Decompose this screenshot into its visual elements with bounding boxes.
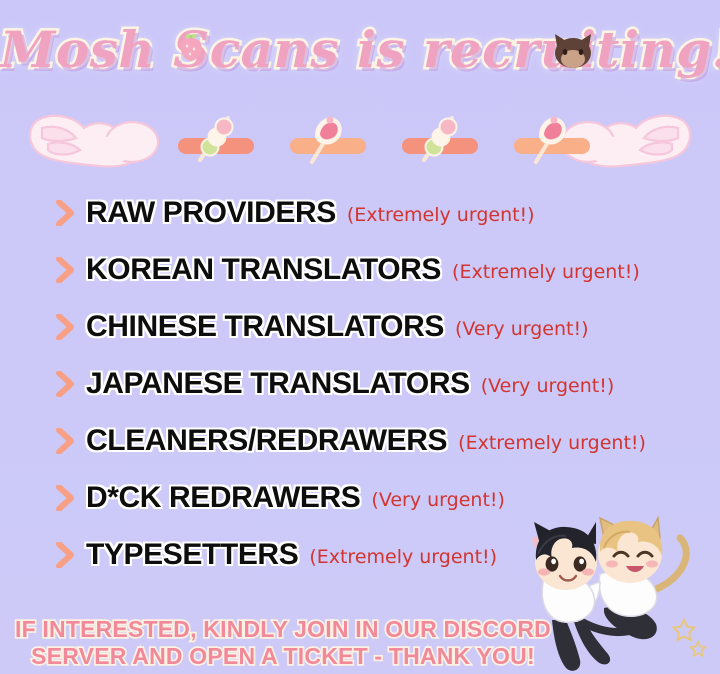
role-title: JAPANESE TRANSLATORS — [86, 367, 470, 401]
cta-line-1: IF INTERESTED, KINDLY JOIN IN OUR DISCOR… — [0, 616, 566, 643]
star-decoration — [674, 620, 706, 656]
role-urgency: (Very urgent!) — [481, 375, 615, 397]
list-item: CHINESE TRANSLATORS (Very urgent!) — [0, 298, 720, 355]
role-urgency: (Very urgent!) — [455, 318, 589, 340]
chevron-right-icon — [56, 542, 76, 568]
role-title: TYPESETTERS — [86, 538, 298, 572]
chevron-right-icon — [56, 485, 76, 511]
role-urgency: (Extremely urgent!) — [309, 546, 497, 568]
chevron-right-icon — [56, 200, 76, 226]
dango-skewer-icon — [414, 110, 464, 166]
chevron-right-icon — [56, 314, 76, 340]
role-title: RAW PROVIDERS — [86, 196, 336, 230]
decorative-divider — [0, 100, 720, 172]
role-urgency: (Extremely urgent!) — [458, 432, 646, 454]
list-item: CLEANERS/REDRAWERS (Extremely urgent!) — [0, 412, 720, 469]
chevron-right-icon — [56, 428, 76, 454]
chevron-right-icon — [56, 371, 76, 397]
winged-cloud-icon — [22, 102, 172, 172]
cat-head-icon — [551, 33, 595, 69]
role-title: D*CK REDRAWERS — [86, 481, 360, 515]
role-urgency: (Extremely urgent!) — [347, 204, 535, 226]
cta-line-2: SERVER AND OPEN A TICKET - THANK YOU! — [0, 643, 566, 670]
role-title: KOREAN TRANSLATORS — [86, 253, 441, 287]
strawberry-icon — [176, 30, 206, 62]
call-to-action: IF INTERESTED, KINDLY JOIN IN OUR DISCOR… — [0, 616, 566, 670]
role-title: CLEANERS/REDRAWERS — [86, 424, 447, 458]
dango-skewer-icon — [190, 110, 240, 166]
role-urgency: (Extremely urgent!) — [452, 261, 640, 283]
role-urgency: (Very urgent!) — [371, 489, 505, 511]
page-title: Mosh Scans is recruiting! — [0, 14, 720, 86]
list-item: JAPANESE TRANSLATORS (Very urgent!) — [0, 355, 720, 412]
lollipop-icon — [300, 110, 350, 166]
chevron-right-icon — [56, 257, 76, 283]
list-item: RAW PROVIDERS (Extremely urgent!) — [0, 184, 720, 241]
lollipop-icon — [524, 110, 574, 166]
list-item: KOREAN TRANSLATORS (Extremely urgent!) — [0, 241, 720, 298]
role-title: CHINESE TRANSLATORS — [86, 310, 444, 344]
recruitment-poster: Mosh Scans is recruiting! — [0, 0, 720, 674]
title-area: Mosh Scans is recruiting! — [0, 14, 720, 94]
